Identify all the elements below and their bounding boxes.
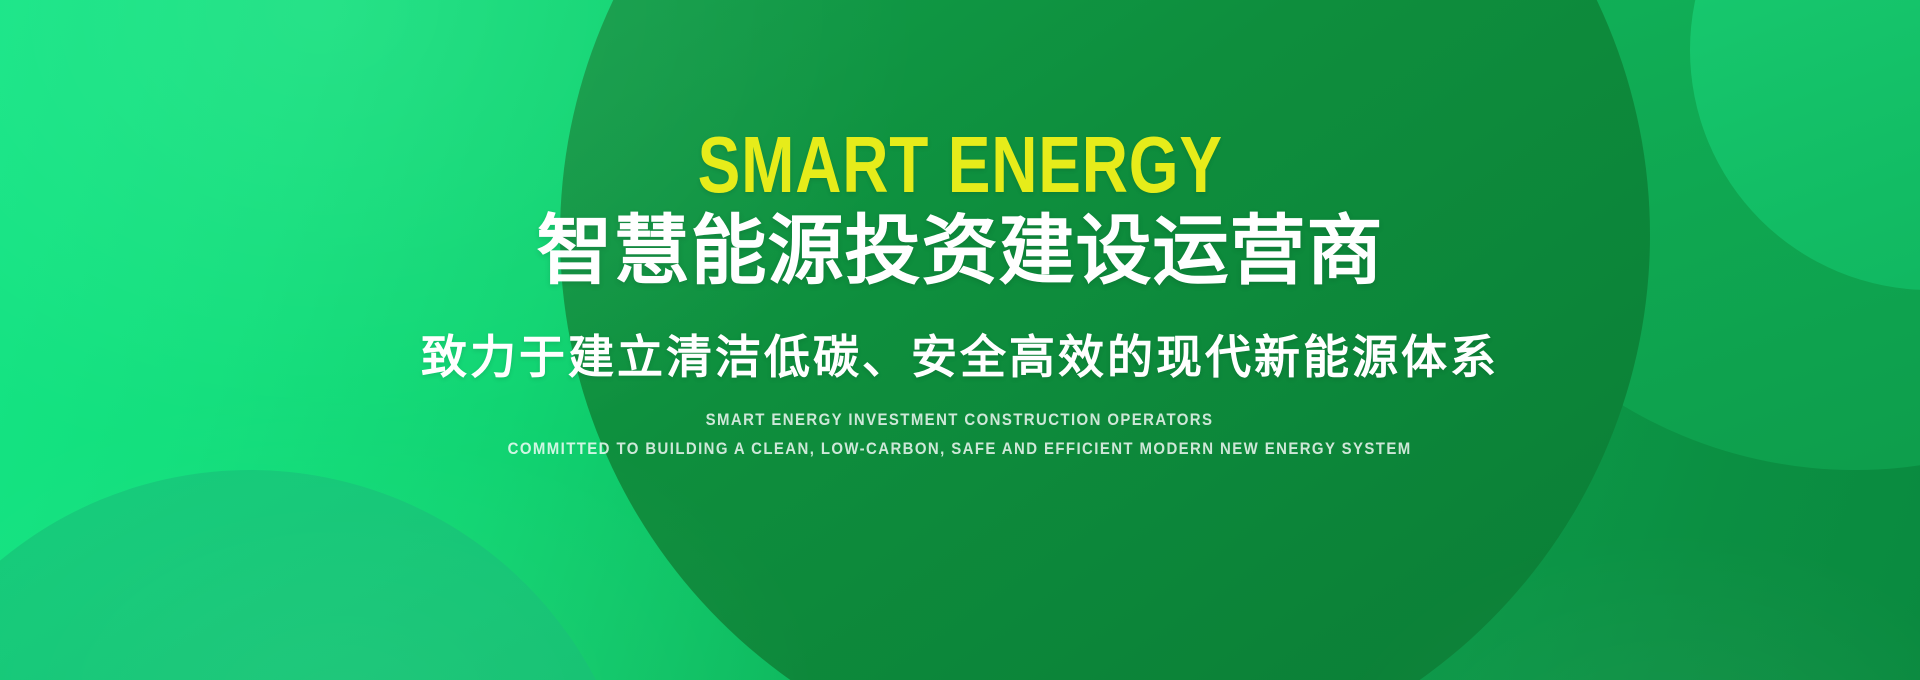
- banner-subheadline-chinese: 致力于建立清洁低碳、安全高效的现代新能源体系: [421, 334, 1499, 380]
- banner-headline-chinese: 智慧能源投资建设运营商: [537, 214, 1384, 290]
- banner-content: SMART ENERGY 智慧能源投资建设运营商 致力于建立清洁低碳、安全高效的…: [0, 0, 1920, 680]
- banner-headline-english: SMART ENERGY: [697, 128, 1222, 202]
- banner-tagline-english-line2: COMMITTED TO BUILDING A CLEAN, LOW-CARBO…: [508, 439, 1412, 459]
- hero-banner: SMART ENERGY 智慧能源投资建设运营商 致力于建立清洁低碳、安全高效的…: [0, 0, 1920, 680]
- banner-tagline-english-line1: SMART ENERGY INVESTMENT CONSTRUCTION OPE…: [706, 410, 1214, 430]
